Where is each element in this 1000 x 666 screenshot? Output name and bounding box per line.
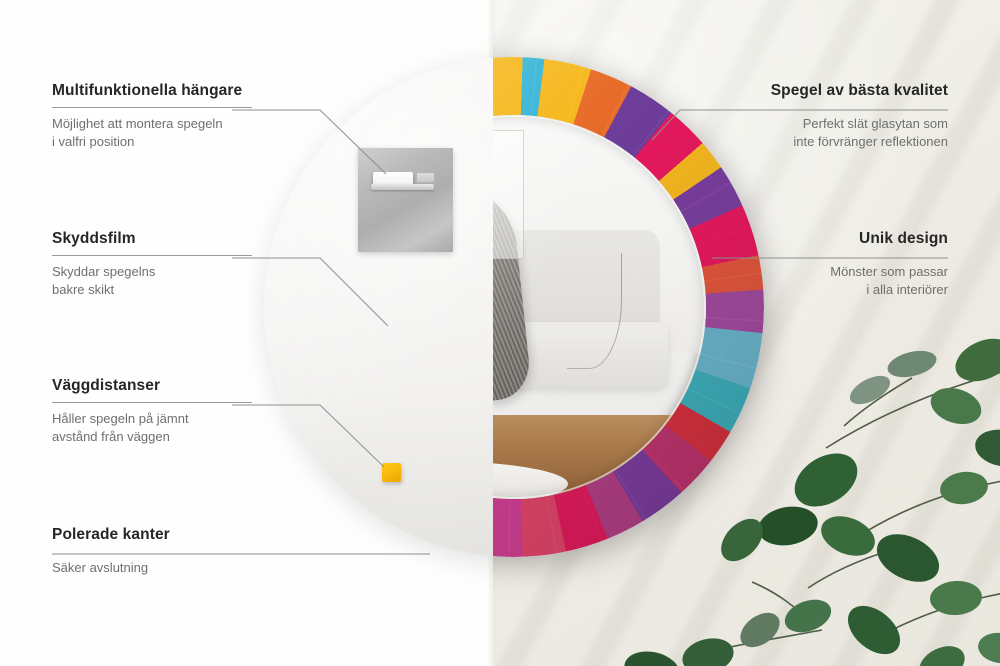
hanger-bar <box>371 184 434 189</box>
callout-spegel-av-basta-kvalitet: Spegel av bästa kvalitet Perfekt slät gl… <box>748 82 948 152</box>
reflected-art-frame <box>493 130 524 259</box>
callout-description: Möjlighet att montera spegeln i valfri p… <box>52 115 252 152</box>
infographic-stage: Multifunktionella hängare Möjlighet att … <box>0 0 1000 666</box>
callout-description: Skyddar spegelns bakre skikt <box>52 263 252 300</box>
callout-description: Säker avslutning <box>52 559 252 577</box>
hanger-plate <box>358 148 453 252</box>
callout-description: Perfekt slät glasytan som inte förvränge… <box>748 115 948 152</box>
callout-rule <box>52 107 252 108</box>
callout-rule <box>52 551 252 552</box>
callout-title: Unik design <box>748 230 948 248</box>
callout-description: Mönster som passar i alla interiörer <box>748 263 948 300</box>
callout-rule <box>748 255 948 256</box>
callout-rule <box>52 255 252 256</box>
callout-rule <box>52 402 252 403</box>
callout-polerade-kanter: Polerade kanter Säker avslutning <box>52 526 252 577</box>
hanger-notch <box>417 173 434 182</box>
callout-title: Skyddsfilm <box>52 230 252 248</box>
callout-description: Håller spegeln på jämnt avstånd från väg… <box>52 410 252 447</box>
callout-title: Spegel av bästa kvalitet <box>748 82 948 100</box>
callout-skyddsfilm: Skyddsfilm Skyddar spegelns bakre skikt <box>52 230 252 300</box>
line-art-portrait-icon <box>493 141 513 247</box>
mirror-frame <box>493 57 764 557</box>
mirror-glass <box>493 115 706 499</box>
callout-unik-design: Unik design Mönster som passar i alla in… <box>748 230 948 300</box>
callout-title: Multifunktionella hängare <box>52 82 252 100</box>
callout-vaggdistanser: Väggdistanser Håller spegeln på jämnt av… <box>52 377 252 447</box>
callout-title: Polerade kanter <box>52 526 252 544</box>
wall-spacer <box>382 463 401 482</box>
callout-rule <box>748 107 948 108</box>
hanger-slot <box>373 172 413 186</box>
mirror-photo <box>493 57 764 557</box>
callout-multifunktionella-hangare: Multifunktionella hängare Möjlighet att … <box>52 82 252 152</box>
callout-title: Väggdistanser <box>52 377 252 395</box>
